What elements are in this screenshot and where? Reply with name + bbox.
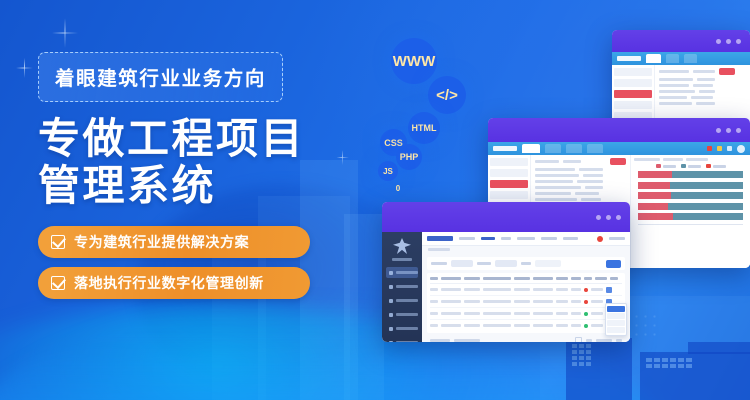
tech-bubble-code: </> xyxy=(428,76,466,114)
row-action-icon[interactable] xyxy=(606,287,612,293)
building-windows xyxy=(572,344,591,366)
legend-item xyxy=(681,164,701,168)
subtitle-text: 着眼建筑行业业务方向 xyxy=(55,62,266,91)
list-item[interactable] xyxy=(659,78,746,81)
status-badge xyxy=(584,300,588,304)
bar-row xyxy=(638,182,743,189)
bar-row xyxy=(638,192,743,199)
checkbox-checked-icon xyxy=(51,235,65,249)
notification-badge[interactable] xyxy=(597,236,603,242)
chart-toolbar xyxy=(634,158,747,161)
sidebar-item-finance[interactable] xyxy=(386,309,418,320)
building-silhouette xyxy=(688,342,750,354)
app-logo-icon xyxy=(393,238,411,254)
nav-item[interactable] xyxy=(541,237,557,241)
search-button[interactable] xyxy=(606,260,621,268)
window-titlebar[interactable] xyxy=(612,30,750,52)
user-menu[interactable] xyxy=(609,237,625,241)
header-tab[interactable] xyxy=(666,54,679,63)
page-button[interactable] xyxy=(575,337,582,342)
sidebar-item-contracts[interactable] xyxy=(386,295,418,306)
table-row[interactable] xyxy=(430,284,622,296)
subtitle-badge: 着眼建筑行业业务方向 xyxy=(38,52,283,102)
filter-input[interactable] xyxy=(535,260,561,267)
list-item[interactable] xyxy=(535,168,626,171)
tree-item[interactable] xyxy=(490,158,528,166)
legend-swatch xyxy=(681,164,686,168)
window-controls[interactable] xyxy=(596,215,621,220)
bar-row xyxy=(638,213,743,220)
top-navbar xyxy=(422,232,630,246)
chart-axis xyxy=(638,224,743,225)
header-tab[interactable] xyxy=(566,144,582,153)
checkbox-checked-icon xyxy=(51,276,65,290)
promo-banner: 着眼建筑行业业务方向 专做工程项目 管理系统 专为建筑行业提供解决方案 落地执行… xyxy=(0,0,750,400)
breadcrumb xyxy=(422,246,630,255)
sidebar-item-projects[interactable] xyxy=(386,281,418,292)
nav-item[interactable] xyxy=(563,237,578,241)
app-logo xyxy=(493,146,517,151)
list-item[interactable] xyxy=(659,84,746,87)
tech-bubble-php: PHP xyxy=(396,144,422,170)
chart-bars xyxy=(634,171,747,225)
dropdown-item[interactable] xyxy=(607,313,625,319)
bar-chart-panel xyxy=(630,155,750,268)
chart-legend xyxy=(634,164,747,168)
table-header-row xyxy=(430,275,622,284)
dropdown-popup[interactable] xyxy=(605,303,627,336)
sidebar xyxy=(382,232,422,342)
tech-bubble-js: JS xyxy=(378,161,398,181)
app-name-label xyxy=(392,258,412,261)
table-row[interactable] xyxy=(430,296,622,308)
feature-pill[interactable]: 专为建筑行业提供解决方案 xyxy=(38,226,310,258)
feature-pill-list: 专为建筑行业提供解决方案 落地执行行业数字化管理创新 xyxy=(38,226,358,299)
building-silhouette xyxy=(640,352,750,400)
bar-row xyxy=(638,171,743,178)
list-item[interactable] xyxy=(535,192,626,195)
tree-item[interactable] xyxy=(614,68,652,76)
primary-button[interactable] xyxy=(610,158,626,165)
window-content xyxy=(382,232,630,342)
settings-icon[interactable] xyxy=(727,146,732,151)
sidebar-item-materials[interactable] xyxy=(386,323,418,334)
header-tab[interactable] xyxy=(646,54,661,63)
avatar[interactable] xyxy=(737,145,745,153)
filter-label xyxy=(431,262,447,266)
data-table xyxy=(427,273,625,333)
list-item[interactable] xyxy=(535,180,626,183)
table-row[interactable] xyxy=(430,320,622,331)
status-badge xyxy=(584,312,588,316)
headline-column: 着眼建筑行业业务方向 专做工程项目 管理系统 专为建筑行业提供解决方案 落地执行… xyxy=(38,52,358,308)
pagination xyxy=(422,333,630,342)
app-header xyxy=(488,142,750,155)
tree-item[interactable] xyxy=(490,191,528,199)
tree-item[interactable] xyxy=(614,79,652,87)
feature-pill-label: 专为建筑行业提供解决方案 xyxy=(74,232,249,252)
legend-item xyxy=(706,164,726,168)
filter-label xyxy=(477,262,491,266)
headline-line-1: 专做工程项目 xyxy=(38,115,358,162)
bell-icon[interactable] xyxy=(717,146,722,151)
feature-pill[interactable]: 落地执行行业数字化管理创新 xyxy=(38,267,310,299)
filter-select[interactable] xyxy=(451,260,473,267)
tech-bubble-html: HTML xyxy=(408,112,440,144)
status-badge xyxy=(584,324,588,328)
tree-item[interactable] xyxy=(490,169,528,177)
header-tab[interactable] xyxy=(522,144,540,153)
tech-bubble-zero: 0 xyxy=(391,181,405,195)
bar-row xyxy=(638,203,743,210)
list-item[interactable] xyxy=(535,158,626,165)
building-windows xyxy=(646,358,692,368)
front-dashboard-window[interactable] xyxy=(382,202,630,342)
tree-item-selected[interactable] xyxy=(490,180,528,188)
list-item[interactable] xyxy=(535,174,626,177)
alert-icon[interactable] xyxy=(707,146,712,151)
filter-label xyxy=(521,262,531,266)
tree-item-selected[interactable] xyxy=(614,90,652,98)
page-title: 专做工程项目 管理系统 xyxy=(38,115,358,210)
app-header xyxy=(612,52,750,65)
list-item[interactable] xyxy=(659,102,746,105)
window-titlebar[interactable] xyxy=(382,202,630,232)
list-item[interactable] xyxy=(659,68,746,75)
list-item[interactable] xyxy=(535,186,626,189)
filter-select[interactable] xyxy=(495,260,517,267)
nav-item-active[interactable] xyxy=(481,237,495,241)
nav-item[interactable] xyxy=(501,237,511,241)
dropdown-item[interactable] xyxy=(607,320,625,326)
sparkle-icon xyxy=(16,58,33,78)
legend-item xyxy=(656,164,676,168)
list-item[interactable] xyxy=(659,90,746,93)
dropdown-item-selected[interactable] xyxy=(607,306,625,312)
primary-button[interactable] xyxy=(719,68,735,75)
window-controls[interactable] xyxy=(716,39,741,44)
main-panel xyxy=(422,232,630,342)
sidebar-menu xyxy=(382,267,422,342)
app-logo xyxy=(617,56,641,61)
header-tab[interactable] xyxy=(545,144,561,153)
dropdown-item[interactable] xyxy=(607,327,625,333)
header-tab[interactable] xyxy=(684,54,697,63)
tech-bubble-www: WWW xyxy=(391,38,437,84)
status-badge xyxy=(584,288,588,292)
table-row[interactable] xyxy=(430,308,622,320)
window-titlebar[interactable] xyxy=(488,118,750,142)
list-item[interactable] xyxy=(535,198,626,201)
nav-item[interactable] xyxy=(517,237,535,241)
list-item[interactable] xyxy=(659,96,746,99)
headline-line-2: 管理系统 xyxy=(38,162,358,209)
brand-logo xyxy=(427,236,453,241)
building-silhouette xyxy=(566,338,632,400)
legend-swatch xyxy=(656,164,661,168)
sidebar-item-reports[interactable] xyxy=(386,337,418,342)
feature-pill-label: 落地执行行业数字化管理创新 xyxy=(74,273,264,293)
sparkle-icon xyxy=(52,18,78,48)
legend-swatch xyxy=(706,164,711,168)
sidebar-item-dashboard[interactable] xyxy=(386,267,418,278)
header-tab[interactable] xyxy=(587,144,603,153)
nav-item[interactable] xyxy=(459,237,475,241)
tree-item[interactable] xyxy=(614,101,652,109)
window-controls[interactable] xyxy=(716,128,741,133)
filter-bar xyxy=(427,257,625,270)
